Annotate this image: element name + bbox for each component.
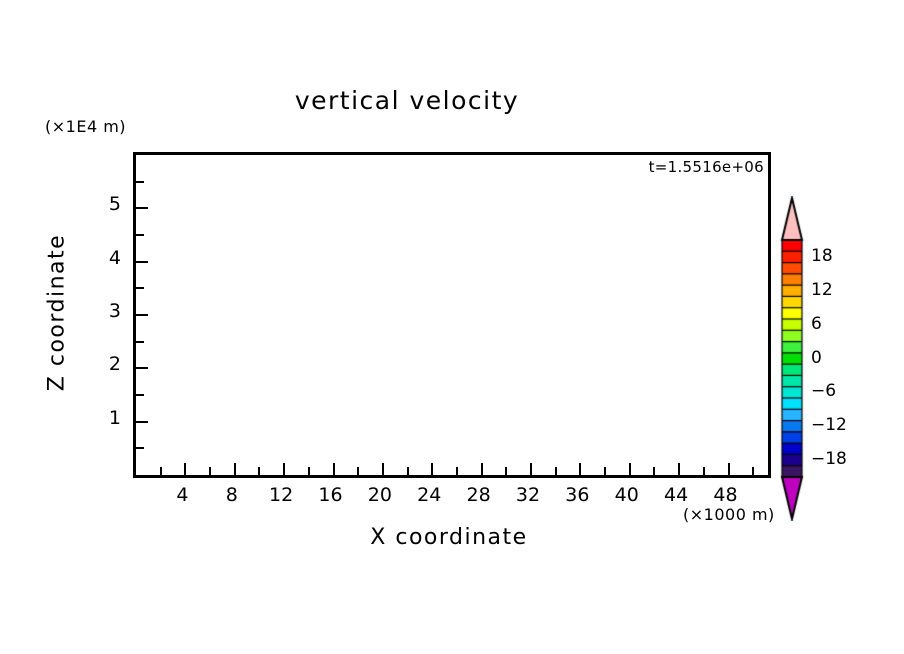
x-tick-minor [555, 467, 557, 475]
y-tick-label: 5 [91, 193, 121, 215]
y-tick-minor [136, 181, 144, 183]
colorbar-tick-label: 12 [811, 280, 833, 300]
x-tick-minor [209, 467, 211, 475]
colorbar [779, 196, 805, 521]
timestamp-label: t=1.5516e+06 [649, 158, 764, 176]
x-tick-major [481, 463, 483, 475]
colorbar-tick-label: 6 [811, 314, 822, 334]
y-tick-minor [136, 234, 144, 236]
x-tick-major [431, 463, 433, 475]
x-tick-major [728, 463, 730, 475]
y-tick-label: 2 [91, 353, 121, 375]
plot-area: t=1.5516e+06 [133, 152, 771, 478]
x-tick-minor [407, 467, 409, 475]
x-tick-major [579, 463, 581, 475]
x-tick-major [184, 463, 186, 475]
figure-canvas: vertical velocity (×1E4 m) (×1000 m) X c… [0, 0, 904, 654]
x-axis-unit-label: (×1000 m) [683, 505, 775, 524]
colorbar-tick-label: −18 [811, 449, 847, 469]
x-tick-label: 48 [706, 484, 746, 506]
x-tick-major [283, 463, 285, 475]
colorbar-gradient [779, 196, 805, 521]
y-tick-minor [136, 447, 144, 449]
colorbar-tick-label: 18 [811, 246, 833, 266]
x-tick-major [333, 463, 335, 475]
x-tick-major [678, 463, 680, 475]
x-tick-label: 4 [162, 484, 202, 506]
page-title: vertical velocity [0, 86, 859, 115]
x-tick-label: 16 [311, 484, 351, 506]
x-tick-minor [703, 467, 705, 475]
x-tick-minor [604, 467, 606, 475]
colorbar-tick-label: 0 [811, 348, 822, 368]
x-tick-major [629, 463, 631, 475]
colorbar-tick-label: −12 [811, 415, 847, 435]
y-tick-minor [136, 341, 144, 343]
z-axis-title: Z coordinate [45, 233, 70, 393]
x-tick-label: 40 [607, 484, 647, 506]
contour-field [136, 155, 768, 475]
x-tick-minor [505, 467, 507, 475]
y-tick-major [136, 261, 148, 263]
y-tick-major [136, 207, 148, 209]
y-tick-major [136, 421, 148, 423]
y-tick-major [136, 367, 148, 369]
y-tick-major [136, 314, 148, 316]
y-tick-minor [136, 394, 144, 396]
y-tick-label: 4 [91, 247, 121, 269]
x-tick-minor [160, 467, 162, 475]
colorbar-tick-label: −6 [811, 381, 836, 401]
y-tick-label: 3 [91, 300, 121, 322]
x-tick-major [382, 463, 384, 475]
x-tick-label: 20 [360, 484, 400, 506]
x-tick-minor [308, 467, 310, 475]
x-tick-minor [752, 467, 754, 475]
x-tick-major [234, 463, 236, 475]
x-tick-minor [357, 467, 359, 475]
y-tick-minor [136, 287, 144, 289]
x-tick-minor [456, 467, 458, 475]
x-tick-label: 36 [557, 484, 597, 506]
y-tick-label: 1 [91, 407, 121, 429]
x-axis-title: X coordinate [133, 525, 765, 550]
y-axis-unit-label: (×1E4 m) [45, 117, 126, 136]
x-tick-minor [258, 467, 260, 475]
x-tick-minor [653, 467, 655, 475]
x-tick-label: 32 [508, 484, 548, 506]
x-tick-label: 44 [656, 484, 696, 506]
x-tick-label: 12 [261, 484, 301, 506]
x-tick-major [530, 463, 532, 475]
x-tick-label: 8 [212, 484, 252, 506]
x-tick-label: 24 [409, 484, 449, 506]
x-tick-label: 28 [459, 484, 499, 506]
